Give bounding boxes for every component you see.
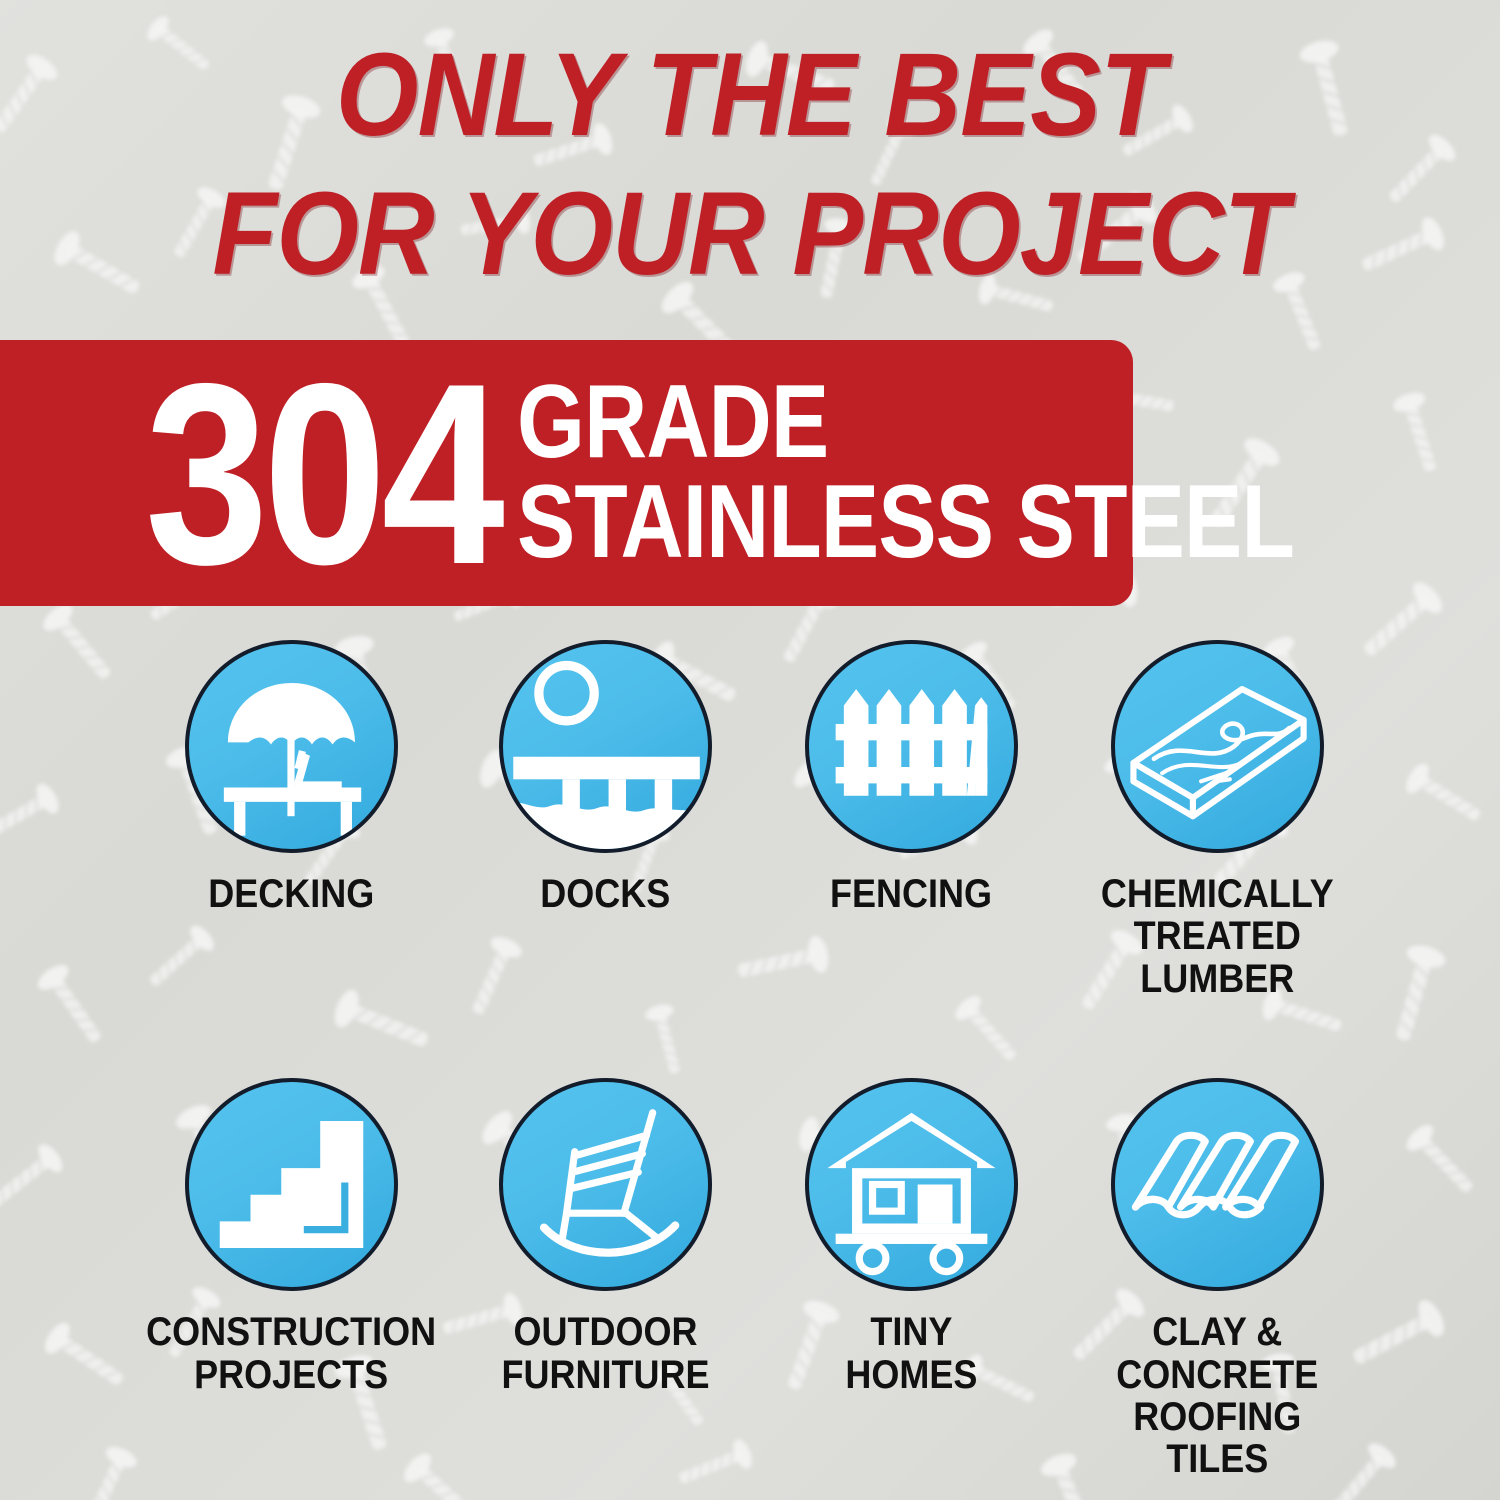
grade-number: 304: [145, 371, 500, 577]
grade-word-stainless-steel: STAINLESS STEEL: [517, 473, 1294, 573]
icon-label-tiny-homes: TINY HOMES: [845, 1311, 977, 1396]
headline-line-2: FOR YOUR PROJECT: [75, 175, 1425, 293]
icon-label-docks: DOCKS: [540, 873, 670, 915]
grid-cell-tiny-homes: TINY HOMES: [758, 1078, 1064, 1481]
icon-label-decking: DECKING: [208, 873, 374, 915]
grid-cell-lumber: CHEMICALLY TREATED LUMBER: [1064, 640, 1370, 1000]
headline-line-1: ONLY THE BEST: [75, 36, 1425, 154]
application-icon-grid: DECKING DOCKS: [0, 640, 1500, 1481]
lumber-board-icon: [1111, 640, 1324, 853]
grid-cell-decking: DECKING: [130, 640, 452, 1000]
icon-label-roofing-tiles: CLAY & CONCRETE ROOFING TILES: [1116, 1311, 1318, 1481]
grade-banner: 304 GRADE STAINLESS STEEL: [0, 340, 1133, 606]
tiny-house-trailer-icon: [805, 1078, 1018, 1291]
icon-label-lumber: CHEMICALLY TREATED LUMBER: [1101, 873, 1334, 1000]
rocking-chair-icon: [499, 1078, 712, 1291]
grid-cell-construction: CONSTRUCTION PROJECTS: [130, 1078, 452, 1481]
icon-label-construction: CONSTRUCTION PROJECTS: [146, 1311, 436, 1396]
grid-cell-roofing-tiles: CLAY & CONCRETE ROOFING TILES: [1064, 1078, 1370, 1481]
picket-fence-icon: [805, 640, 1018, 853]
deck-umbrella-icon: [185, 640, 398, 853]
icon-label-fencing: FENCING: [830, 873, 992, 915]
dock-pier-icon: [499, 640, 712, 853]
grid-cell-fencing: FENCING: [758, 640, 1064, 1000]
stairs-icon: [185, 1078, 398, 1291]
grid-cell-outdoor-furniture: OUTDOOR FURNITURE: [452, 1078, 758, 1481]
grid-cell-docks: DOCKS: [452, 640, 758, 1000]
grade-words: GRADE STAINLESS STEEL: [517, 373, 1442, 573]
roof-tiles-icon: [1111, 1078, 1324, 1291]
grade-word-grade: GRADE: [517, 373, 1294, 473]
icon-label-outdoor-furniture: OUTDOOR FURNITURE: [501, 1311, 709, 1396]
